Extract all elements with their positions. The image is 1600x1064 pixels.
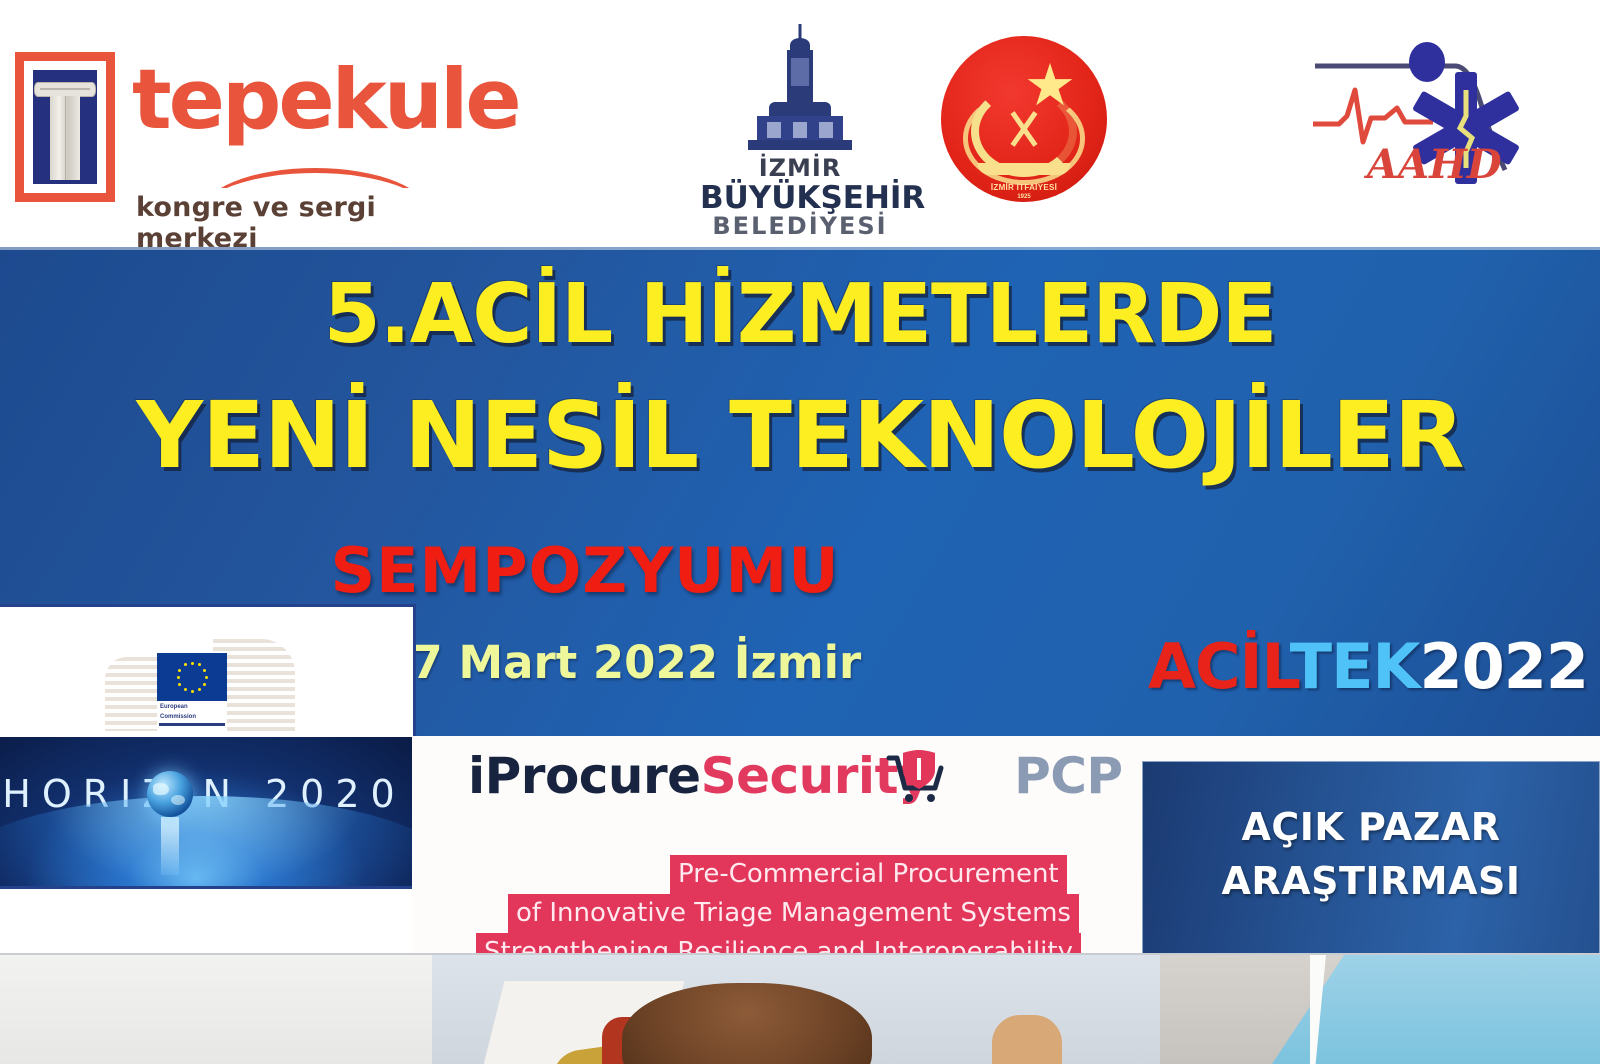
- european-commission-logo: European Commission: [0, 607, 413, 737]
- izmir-label-line2: BÜYÜKŞEHİR: [700, 180, 900, 216]
- aciltek-part-year: 2022: [1420, 630, 1589, 703]
- horizon2020-logo: European Commission HORIZ N 2020: [0, 604, 416, 889]
- globe-light-beam: [161, 817, 179, 875]
- iprocure-part1: iProcure: [468, 747, 701, 805]
- izmir-fire-department-emblem: ★ İZMİR İTFAİYESİ 1925: [941, 36, 1107, 202]
- aahd-logo: AAHD: [1305, 38, 1555, 213]
- aciltek-part-tek: TEK: [1290, 630, 1420, 703]
- izmir-municipality-logo: İZMİR BÜYÜKŞEHİR BELEDİYESİ: [700, 24, 900, 219]
- ecg-heartbeat-icon: [1313, 90, 1433, 142]
- shield-cart-icon: [885, 748, 947, 804]
- eu-stars: [175, 660, 209, 694]
- aahd-dot-icon: [1409, 42, 1445, 82]
- aciltek-logo: ACİLTEK2022: [1148, 634, 1588, 700]
- description-line-1: Pre-Commercial Procurement: [670, 855, 1067, 894]
- event-title-line2: YENİ NESİL TEKNOLOJİLER: [0, 388, 1600, 484]
- column-capital: [34, 82, 96, 97]
- tepekule-arc: [200, 166, 430, 188]
- iprocuresecurity-logo: iProcureSecurityPCP: [468, 748, 1123, 804]
- cart-wheel-right: [927, 794, 935, 802]
- ec-label-line1: European: [157, 701, 227, 711]
- tower-base-mid: [757, 116, 843, 142]
- emblem-ribbon: [978, 163, 1071, 175]
- fire-dept-caption-sub: 1925: [941, 194, 1107, 200]
- event-subtitle: SEMPOZYUMU: [0, 538, 1170, 604]
- shield-cart-svg: [885, 748, 947, 804]
- market-consultation-box: AÇIK PAZAR ARAŞTIRMASI: [1142, 761, 1600, 954]
- event-title-line1: 5.ACİL HİZMETLERDE: [0, 272, 1600, 358]
- bottom-photo-row: [0, 955, 1600, 1064]
- tower-shaft: [787, 50, 813, 104]
- photo-wall: [1160, 955, 1360, 1064]
- photo-left: [0, 955, 432, 1064]
- fire-dept-caption: İZMİR İTFAİYESİ: [941, 183, 1107, 192]
- ec-label-line2: Commission: [157, 711, 227, 721]
- eu-flag-icon: [157, 653, 227, 701]
- column-shaft: [50, 96, 80, 180]
- tepekule-tagline: kongre ve sergi merkezi: [136, 192, 480, 254]
- description-line-2: of Innovative Triage Management Systems: [508, 894, 1079, 933]
- market-consultation-text: AÇIK PAZAR ARAŞTIRMASI: [1143, 800, 1599, 908]
- tepekule-wordmark: tepekule: [132, 58, 519, 142]
- ec-building-icon: European Commission: [95, 633, 325, 733]
- market-consultation-line1: AÇIK PAZAR: [1143, 800, 1599, 854]
- clock-tower-icon: [745, 24, 855, 152]
- event-poster: tepekule kongre ve sergi merkezi İZMİR B…: [0, 0, 1600, 1064]
- iprocure-part3: PCP: [1014, 747, 1123, 805]
- tepekule-column-bg: [33, 70, 97, 184]
- izmir-label-line1: İZMİR: [700, 154, 900, 182]
- aahd-svg: AAHD: [1305, 38, 1555, 213]
- izmir-label-line3: BELEDİYESİ: [700, 212, 900, 240]
- aahd-wordmark: AAHD: [1363, 141, 1502, 188]
- photo-arm: [992, 1015, 1062, 1064]
- ec-label: European Commission: [157, 701, 227, 733]
- crossed-axes-icon: [988, 109, 1060, 149]
- horizon2020-wordmark: HORIZ N 2020: [0, 773, 413, 815]
- photo-right-sky: [1160, 955, 1600, 1064]
- tepekule-column-icon: [15, 52, 115, 202]
- market-consultation-line2: ARAŞTIRMASI: [1143, 854, 1599, 908]
- sponsor-logo-bar: tepekule kongre ve sergi merkezi İZMİR B…: [0, 0, 1600, 240]
- cart-wheel-left: [905, 794, 913, 802]
- tepekule-logo: tepekule kongre ve sergi merkezi: [10, 46, 480, 216]
- photo-center-people: [432, 955, 1160, 1064]
- tower-base-lower: [748, 140, 852, 150]
- ec-label-rule: [159, 723, 225, 726]
- aciltek-part-acil: ACİL: [1148, 630, 1290, 703]
- globe-icon: [147, 771, 193, 817]
- horizon2020-banner: HORIZ N 2020: [0, 737, 413, 886]
